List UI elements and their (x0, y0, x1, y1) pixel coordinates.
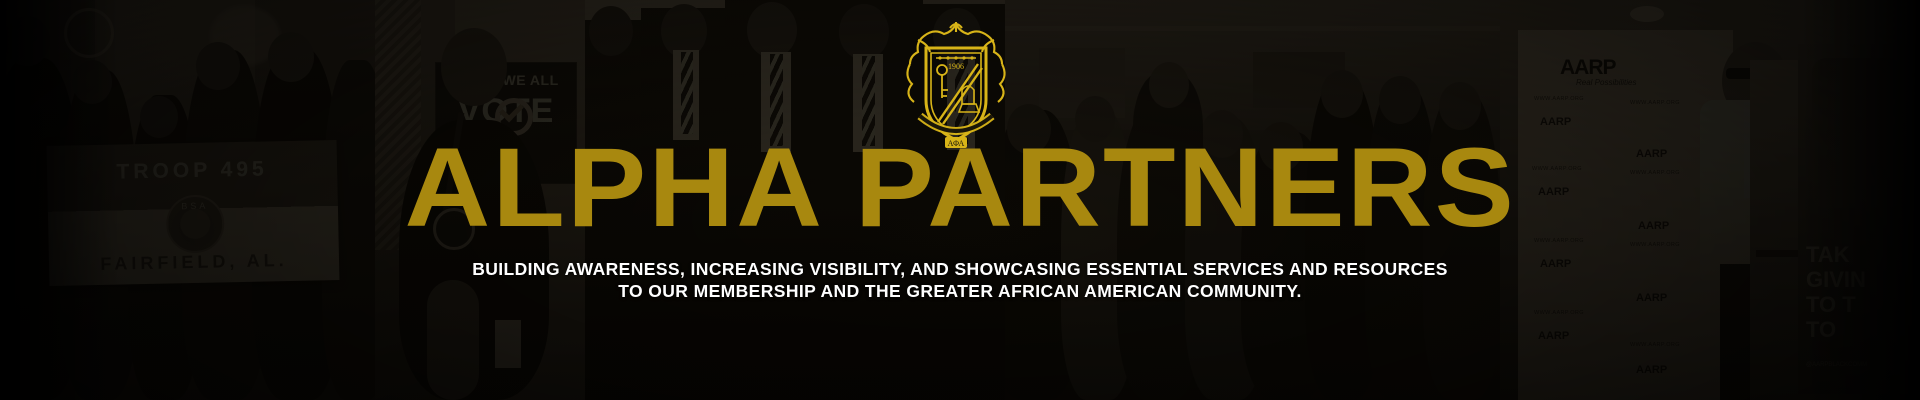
page-title: ALPHA PARTNERS (404, 132, 1515, 244)
page-subtitle: BUILDING AWARENESS, INCREASING VISIBILIT… (472, 258, 1448, 302)
subtitle-line-1: BUILDING AWARENESS, INCREASING VISIBILIT… (472, 258, 1448, 280)
text-overlay: ALPHA PARTNERS BUILDING AWARENESS, INCRE… (0, 0, 1920, 400)
subtitle-line-2: TO OUR MEMBERSHIP AND THE GREATER AFRICA… (472, 280, 1448, 302)
alpha-partners-hero-banner: TROOP 495 BSA FAIRFIELD, AL. WHEN WE ALL… (0, 0, 1920, 400)
